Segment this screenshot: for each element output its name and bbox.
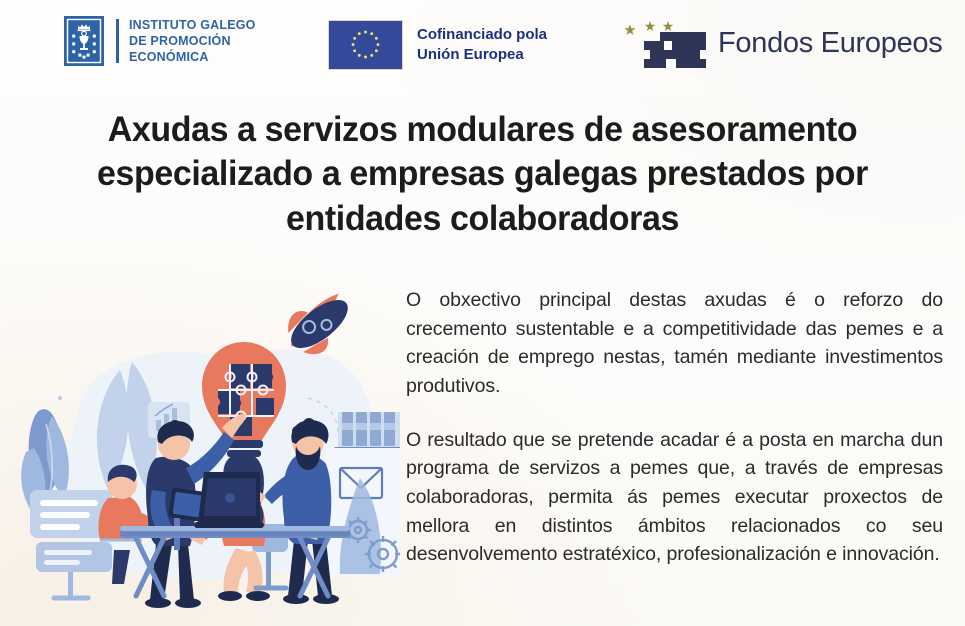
paragraph-objective: O obxectivo principal destas axudas é o … — [406, 286, 943, 401]
logo-igape-label: INSTITUTO GALEGO DE PROMOCIÓN ECONÓMICA — [129, 17, 256, 65]
team-collaboration-illustration — [8, 292, 400, 616]
xunta-de-galicia-shield-icon — [64, 16, 104, 66]
logo-eu-label: Cofinanciado pola Unión Europea — [417, 25, 547, 66]
eu-flag-icon — [328, 20, 403, 70]
logo-fondos-label: Fondos Europeos — [718, 27, 942, 60]
logo-fondos-europeos: Fondos Europeos — [620, 10, 942, 76]
logo-igape: INSTITUTO GALEGO DE PROMOCIÓN ECONÓMICA — [64, 16, 256, 66]
fondos-europeos-mark-icon — [620, 10, 712, 76]
logo-bar: INSTITUTO GALEGO DE PROMOCIÓN ECONÓMICA — [0, 0, 965, 92]
body-text-column: O obxectivo principal destas axudas é o … — [406, 286, 943, 569]
poster-page: INSTITUTO GALEGO DE PROMOCIÓN ECONÓMICA — [0, 0, 965, 626]
logo-european-union: Cofinanciado pola Unión Europea — [328, 20, 547, 70]
paragraph-result: O resultado que se pretende acadar é a p… — [406, 426, 943, 569]
logo-divider — [116, 19, 119, 63]
page-title: Axudas a servizos modulares de asesorame… — [53, 108, 911, 241]
